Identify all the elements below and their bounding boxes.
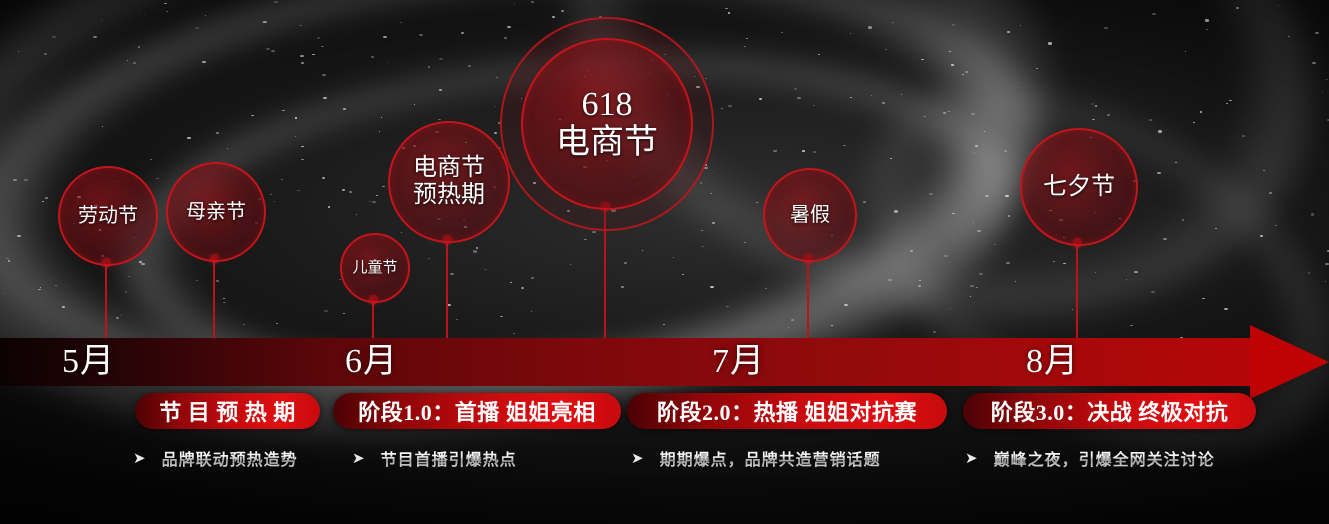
bubble-label-mothers-day: 母亲节 bbox=[186, 201, 246, 223]
month-label-2: 6月 bbox=[345, 338, 398, 386]
bubble-label-618-ecom-festival: 618电商节 bbox=[556, 86, 658, 162]
bubble-label-labour-day: 劳动节 bbox=[78, 205, 138, 227]
bullet-arrow-icon: ➤ bbox=[352, 449, 365, 468]
phase-2-pill[interactable]: 阶段2.0：热播 姐姐对抗赛 bbox=[627, 393, 947, 429]
bullet-arrow-icon: ➤ bbox=[965, 449, 978, 468]
bubble-label-summer-holiday: 暑假 bbox=[790, 204, 830, 226]
bubble-labour-day[interactable]: 劳动节 bbox=[58, 166, 158, 266]
phase-2-bullet-text: 期期爆点，品牌共造营销话题 bbox=[660, 446, 881, 470]
bubble-childrens-day[interactable]: 儿童节 bbox=[340, 233, 410, 303]
phase-warmup-bullet-text: 品牌联动预热造势 bbox=[162, 446, 298, 470]
phase-warmup-bullet: ➤品牌联动预热造势 bbox=[133, 446, 298, 470]
bubble-618-ecom-festival[interactable]: 618电商节 bbox=[521, 38, 693, 210]
bubble-summer-holiday[interactable]: 暑假 bbox=[763, 168, 857, 262]
bullet-arrow-icon: ➤ bbox=[631, 449, 644, 468]
phase-1-bullet: ➤节目首播引爆热点 bbox=[352, 446, 517, 470]
bubble-label-qixi-festival: 七夕节 bbox=[1043, 174, 1115, 201]
bubble-label-childrens-day: 儿童节 bbox=[352, 260, 397, 277]
bubble-qixi-festival[interactable]: 七夕节 bbox=[1020, 128, 1138, 246]
timeline-bar bbox=[0, 338, 1329, 386]
month-label-3: 7月 bbox=[712, 338, 765, 386]
month-label-4: 8月 bbox=[1026, 338, 1079, 386]
phase-1-pill[interactable]: 阶段1.0：首播 姐姐亮相 bbox=[333, 393, 621, 429]
bubble-label-ecom-warmup: 电商节预热期 bbox=[413, 155, 485, 209]
phase-3-bullet: ➤巅峰之夜，引爆全网关注讨论 bbox=[965, 446, 1215, 470]
bubble-mothers-day[interactable]: 母亲节 bbox=[166, 162, 266, 262]
timeline-infographic: 劳动节母亲节儿童节电商节预热期618电商节暑假七夕节 5月6月7月8月 节 目 … bbox=[0, 0, 1329, 524]
phase-warmup-pill[interactable]: 节 目 预 热 期 bbox=[135, 393, 320, 429]
phase-3-bullet-text: 巅峰之夜，引爆全网关注讨论 bbox=[994, 446, 1215, 470]
phase-2-bullet: ➤期期爆点，品牌共造营销话题 bbox=[631, 446, 881, 470]
phase-1-bullet-text: 节目首播引爆热点 bbox=[381, 446, 517, 470]
timeline-arrow-icon bbox=[1250, 325, 1329, 399]
bullet-arrow-icon: ➤ bbox=[133, 449, 146, 468]
bubble-ecom-warmup[interactable]: 电商节预热期 bbox=[388, 121, 510, 243]
phase-3-pill[interactable]: 阶段3.0：决战 终极对抗 bbox=[963, 393, 1256, 429]
month-label-1: 5月 bbox=[62, 338, 115, 386]
